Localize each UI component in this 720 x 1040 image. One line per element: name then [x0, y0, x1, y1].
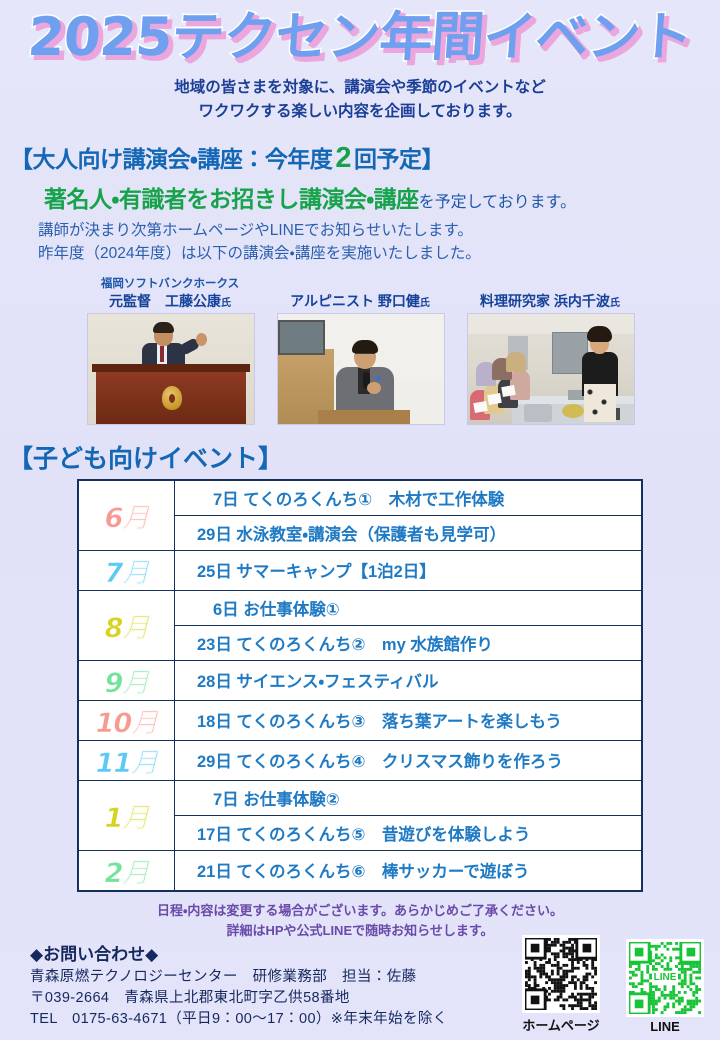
schedule-event-cell: 7日 お仕事体験② [175, 780, 643, 815]
title-block: 2025テクセン年間イベント [0, 0, 720, 66]
schedule-month-label: 11月 [96, 748, 158, 779]
table-row: 9月28日 サイエンス・フェスティバル [78, 660, 642, 700]
table-row: 6月7日 てくのろくんち① 木材で工作体験 [78, 480, 642, 516]
schedule-event-cell: 6日 お仕事体験① [175, 590, 643, 625]
table-row: 11月29日 てくのろくんち④ クリスマス飾りを作ろう [78, 740, 642, 780]
contact-org: 青森原燃テクノロジーセンター 研修業務部 担当：佐藤 [30, 967, 448, 988]
photo-1-podium-top [92, 364, 250, 372]
adult-heading-before: 【大人向け講演会・講座：今年度 [10, 146, 332, 172]
table-row: 7月25日 サマーキャンプ【1泊2日】 [78, 550, 642, 590]
speaker-1-name: 元監督 工藤公康氏 [87, 292, 253, 310]
speaker-1-affiliation: 福岡ソフトバンクホークス [87, 277, 253, 291]
contact-address: 〒039-2664 青森県上北郡東北町字乙供58番地 [30, 988, 448, 1009]
qr-line-label: LINE [626, 1019, 704, 1034]
schedule-month-label: 9月 [105, 668, 149, 699]
qr-homepage[interactable]: ホームページ [522, 935, 600, 1034]
schedule-month-label: 1月 [105, 803, 149, 834]
schedule-month-cell: 1月 [78, 780, 175, 850]
schedule-event-cell: 23日 てくのろくんち② my 水族館作り [175, 625, 643, 660]
qr-homepage-label: ホームページ [522, 1015, 600, 1034]
speaker-2-affiliation [277, 277, 443, 291]
schedule-table-body: 6月7日 てくのろくんち① 木材で工作体験29日 水泳教室・講演会（保護者も見学… [78, 480, 642, 891]
schedule-month-label: 7月 [105, 558, 149, 589]
contact-tel: TEL 0175-63-4671（平日9：00〜17：00）※年末年始を除く [30, 1009, 448, 1030]
speaker-2-name: アルピニスト 野口健氏 [277, 292, 443, 310]
schedule-month-label: 6月 [105, 503, 149, 534]
photo-3-audience [470, 334, 532, 420]
schedule-month-cell: 2月 [78, 850, 175, 891]
schedule-month-cell: 11月 [78, 740, 175, 780]
schedule-month-cell: 10月 [78, 700, 175, 740]
schedule-month-label: 10月 [96, 708, 158, 739]
speaker-3-photo [467, 313, 635, 425]
adult-lecture-notes: 講師が決まり次第ホームページやLINEでお知らせいたします。 昨年度（2024年… [10, 219, 720, 266]
schedule-month-label: 2月 [105, 858, 149, 889]
kids-events-heading: 【子ども向けイベント】 [0, 439, 720, 475]
schedule-event-cell: 28日 サイエンス・フェスティバル [175, 660, 643, 700]
schedule-month-cell: 7月 [78, 550, 175, 590]
table-row: 1月7日 お仕事体験② [78, 780, 642, 815]
schedule-event-cell: 29日 てくのろくんち④ クリスマス飾りを作ろう [175, 740, 643, 780]
schedule-event-cell: 25日 サマーキャンプ【1泊2日】 [175, 550, 643, 590]
speaker-2-name-suffix: 氏 [420, 298, 430, 309]
speaker-2-photo [277, 313, 445, 425]
adult-note-2: 昨年度（2024年度）は以下の講演会・講座を実施いたしました。 [38, 242, 720, 265]
qr-homepage-image[interactable] [522, 935, 600, 1013]
speaker-3-name-text: 料理研究家 浜内千波 [480, 293, 610, 309]
adult-lecture-section: 【大人向け講演会・講座：今年度2回予定】 著名人・有識者をお招きし講演会・講座を… [0, 140, 720, 266]
adult-lecture-count: 2 [332, 142, 354, 174]
qr-line-image[interactable]: LINE [626, 939, 704, 1017]
schedule-event-cell: 21日 てくのろくんち⑥ 棒サッカーで遊ぼう [175, 850, 643, 891]
table-row: 10月18日 てくのろくんち③ 落ち葉アートを楽しもう [78, 700, 642, 740]
speaker-gallery: 福岡ソフトバンクホークス 元監督 工藤公康氏 アルピニスト 野口健氏 [0, 277, 720, 425]
adult-heading-after: 回予定】 [354, 146, 444, 172]
page-title: 2025テクセン年間イベント [26, 10, 693, 66]
svg-text:LINE: LINE [654, 972, 677, 983]
note-line-1: 日程・内容は変更する場合がございます。あらかじめご了承ください。 [0, 901, 720, 921]
contact-heading: ◆お問い合わせ◆ [30, 940, 448, 965]
speaker-3-name: 料理研究家 浜内千波氏 [467, 292, 633, 310]
qr-code-group: ホームページ LINE LINE [522, 935, 704, 1034]
speaker-2-name-text: アルピニスト 野口健 [290, 293, 420, 309]
lead-text: 地域の皆さまを対象に、講演会や季節のイベントなど ワクワクする楽しい内容を企画し… [0, 76, 720, 124]
adult-sub-tail: を予定しております。 [419, 194, 576, 211]
lead-line-2: ワクワクする楽しい内容を企画しております。 [0, 100, 720, 124]
speaker-card-noguchi: アルピニスト 野口健氏 [277, 277, 443, 425]
schedule-event-cell: 7日 てくのろくんち① 木材で工作体験 [175, 480, 643, 516]
table-row: 8月6日 お仕事体験① [78, 590, 642, 625]
photo-2-podium [318, 410, 410, 424]
schedule-event-cell: 18日 てくのろくんち③ 落ち葉アートを楽しもう [175, 700, 643, 740]
speaker-1-photo [87, 313, 255, 425]
speaker-1-name-text: 元監督 工藤公康 [109, 293, 221, 309]
schedule-month-label: 8月 [105, 613, 149, 644]
speaker-3-affiliation [467, 277, 633, 291]
adult-lecture-subheading: 著名人・有識者をお招きし講演会・講座を予定しております。 [10, 180, 720, 214]
photo-1-emblem [162, 386, 182, 410]
qr-line[interactable]: LINE LINE [626, 939, 704, 1034]
adult-sub-highlight: 著名人・有識者をお招きし講演会・講座 [44, 186, 419, 212]
schedule-month-cell: 6月 [78, 480, 175, 551]
schedule-month-cell: 9月 [78, 660, 175, 700]
schedule-month-cell: 8月 [78, 590, 175, 660]
schedule-event-cell: 17日 てくのろくんち⑤ 昔遊びを体験しよう [175, 815, 643, 850]
photo-3-instructor [580, 326, 620, 422]
speaker-1-name-suffix: 氏 [221, 298, 231, 309]
lead-line-1: 地域の皆さまを対象に、講演会や季節のイベントなど [0, 76, 720, 100]
adult-lecture-heading: 【大人向け講演会・講座：今年度2回予定】 [10, 140, 720, 175]
poster: 2025テクセン年間イベント 地域の皆さまを対象に、講演会や季節のイベントなど … [0, 0, 720, 1040]
speaker-card-kudo: 福岡ソフトバンクホークス 元監督 工藤公康氏 [87, 277, 253, 425]
photo-2-board [278, 320, 325, 355]
contact-block: ◆お問い合わせ◆ 青森原燃テクノロジーセンター 研修業務部 担当：佐藤 〒039… [30, 940, 448, 1030]
schedule-table: 6月7日 てくのろくんち① 木材で工作体験29日 水泳教室・講演会（保護者も見学… [77, 479, 643, 892]
speaker-3-name-suffix: 氏 [610, 298, 620, 309]
speaker-card-hamauchi: 料理研究家 浜内千波氏 [467, 277, 633, 425]
schedule-event-cell: 29日 水泳教室・講演会（保護者も見学可） [175, 515, 643, 550]
table-row: 2月21日 てくのろくんち⑥ 棒サッカーで遊ぼう [78, 850, 642, 891]
adult-note-1: 講師が決まり次第ホームページやLINEでお知らせいたします。 [38, 219, 720, 242]
